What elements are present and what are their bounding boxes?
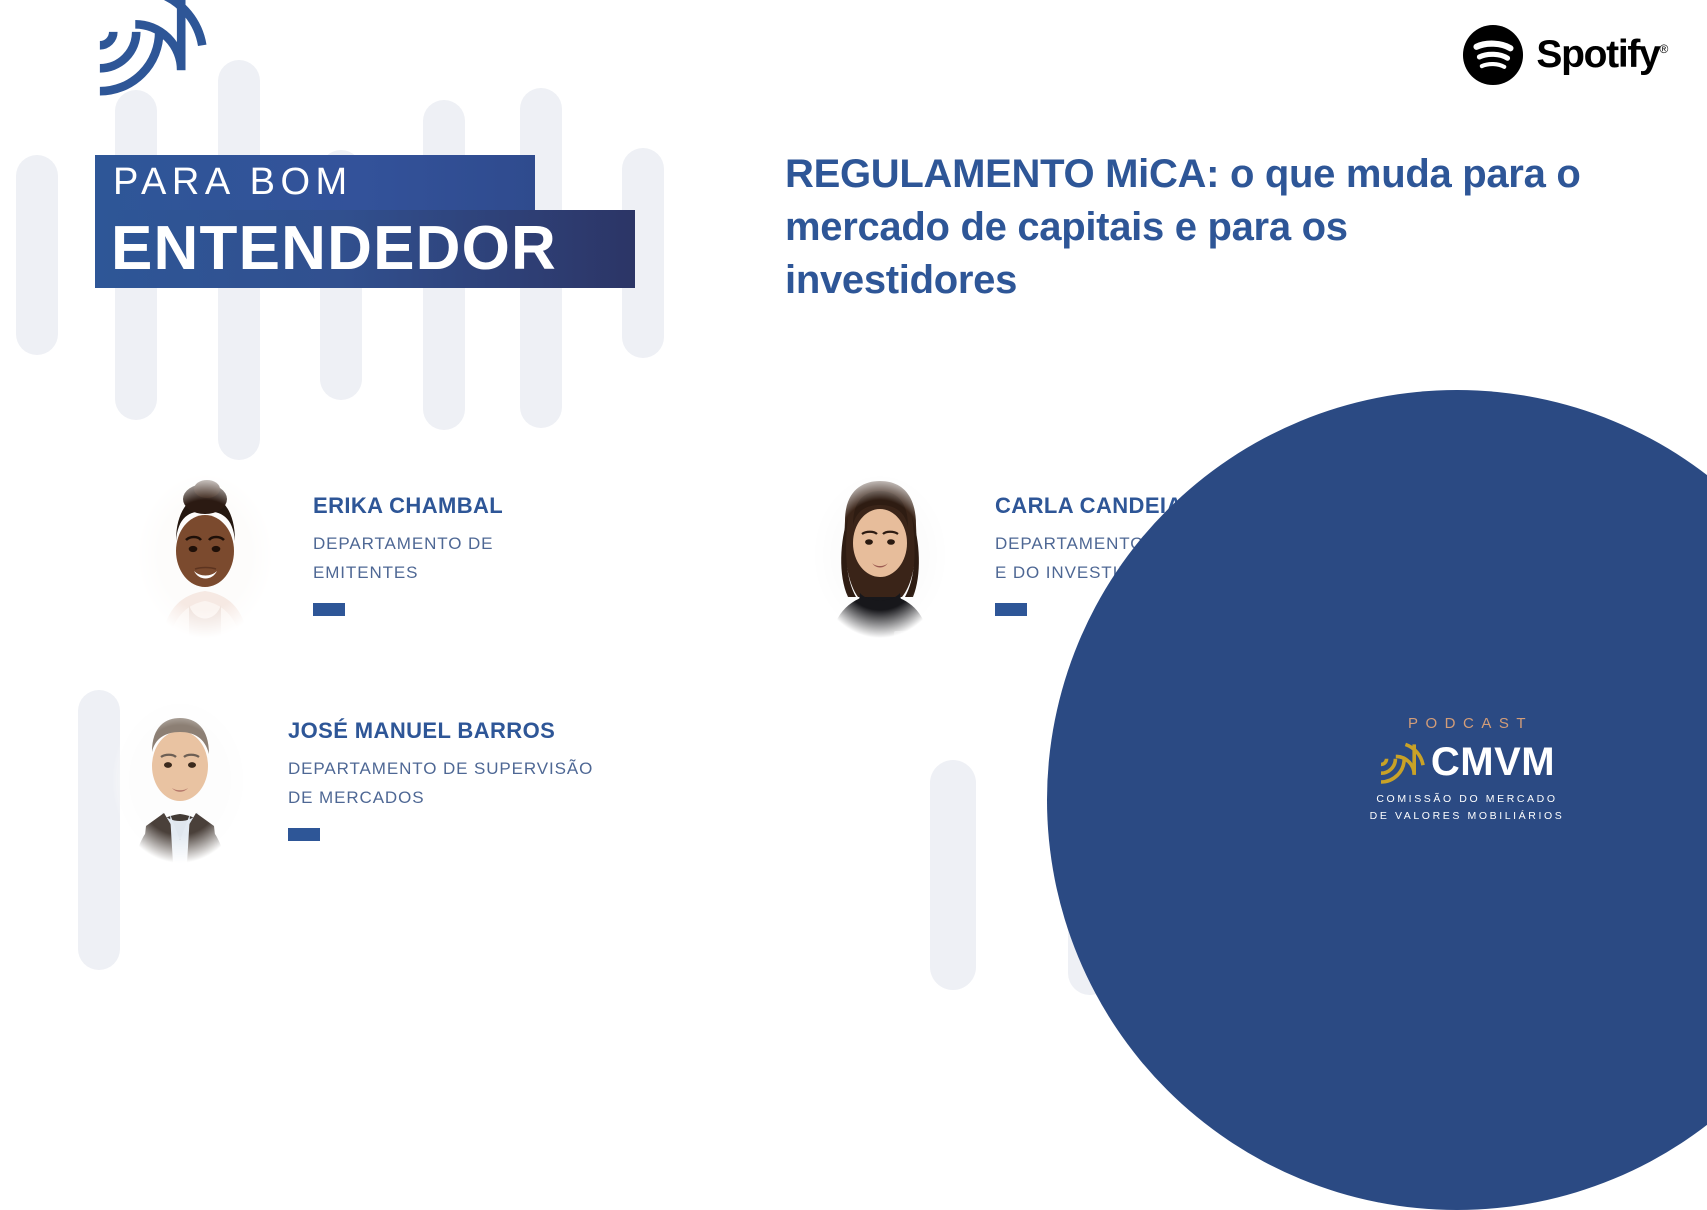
- speaker-card: JOSÉ MANUEL BARROS DEPARTAMENTO DE SUPER…: [90, 680, 593, 880]
- waveform-bar: [930, 760, 976, 990]
- podcast-acronym: CMVM: [1431, 740, 1555, 785]
- speaker-card: ERIKA CHAMBAL DEPARTAMENTO DE EMITENTES: [115, 455, 503, 655]
- speaker-portrait-erika-chambal: [115, 455, 295, 655]
- cmvm-arc-icon: [95, 0, 210, 96]
- speaker-info: JOSÉ MANUEL BARROS DEPARTAMENTO DE SUPER…: [288, 680, 593, 841]
- speaker-portrait-carla-candeias-ferreira: [790, 455, 970, 655]
- episode-title: REGULAMENTO MiCA: o que muda para o merc…: [785, 148, 1585, 308]
- registered-mark: ®: [1659, 42, 1667, 56]
- portrait-image: [90, 680, 270, 880]
- podcast-logo: PODCAST CMVM COMISSÃO DO MERCADO DE VALO…: [1322, 715, 1612, 825]
- speaker-accent-rule: [995, 603, 1027, 616]
- show-title-line1-band: PARA BOM: [95, 155, 535, 210]
- speaker-department-line1: DEPARTAMENTO DE: [313, 529, 503, 558]
- portrait-image: [790, 455, 970, 655]
- show-title-line2: ENTENDEDOR: [111, 218, 557, 280]
- podcast-lockup: CMVM: [1322, 740, 1612, 785]
- spotify-wordmark: Spotify®: [1536, 33, 1667, 77]
- speaker-department-line2: DE MERCADOS: [288, 783, 593, 812]
- show-title-line1: PARA BOM: [113, 161, 353, 204]
- spotify-name: Spotify: [1536, 33, 1659, 76]
- show-title-line2-band: ENTENDEDOR: [95, 210, 635, 288]
- podcast-subtitle-line1: COMISSÃO DO MERCADO: [1322, 791, 1612, 808]
- spotify-icon: [1462, 24, 1524, 86]
- cmvm-arc-icon-gold: [1379, 742, 1427, 784]
- podcast-kicker: PODCAST: [1322, 715, 1612, 732]
- speaker-department-line1: DEPARTAMENTO DE SUPERVISÃO: [288, 754, 593, 783]
- speaker-info: ERIKA CHAMBAL DEPARTAMENTO DE EMITENTES: [313, 455, 503, 616]
- portrait-image: [115, 455, 295, 655]
- spotify-logo[interactable]: Spotify®: [1462, 24, 1667, 86]
- speaker-name: JOSÉ MANUEL BARROS: [288, 718, 593, 744]
- waveform-bar: [16, 155, 58, 355]
- speaker-portrait-jose-manuel-barros: [90, 680, 270, 880]
- speaker-name: ERIKA CHAMBAL: [313, 493, 503, 519]
- speaker-department-line2: EMITENTES: [313, 558, 503, 587]
- speaker-accent-rule: [313, 603, 345, 616]
- podcast-subtitle-line2: DE VALORES MOBILIÁRIOS: [1322, 808, 1612, 825]
- speaker-accent-rule: [288, 828, 320, 841]
- show-title-banner: PARA BOM ENTENDEDOR: [95, 155, 635, 288]
